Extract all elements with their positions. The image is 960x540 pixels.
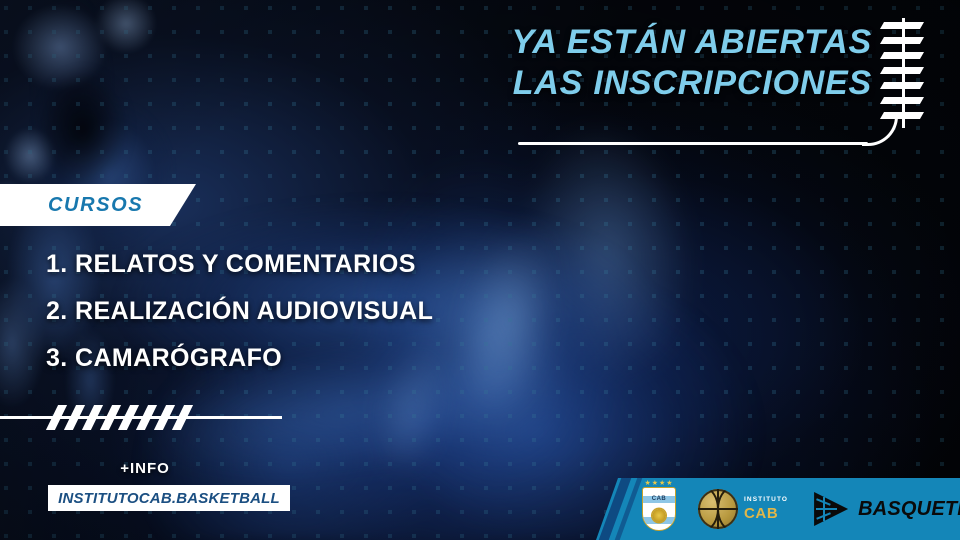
basquetpass-triangle-icon — [814, 492, 848, 526]
instituto-cab-logo: INSTITUTO CAB — [698, 489, 788, 529]
basquetpass-logo: BASQUETPASS — [814, 492, 960, 526]
list-item: 2. REALIZACIÓN AUDIOVISUAL — [46, 297, 433, 326]
basquetpass-wordmark: BASQUETPASS — [858, 498, 960, 521]
hash-divider-icon — [0, 405, 282, 431]
ladder-rung — [880, 82, 924, 89]
ladder-rung — [880, 52, 924, 59]
basketball-icon — [698, 489, 738, 529]
cursos-tab-label: CURSOS — [48, 194, 143, 217]
ladder-rung — [880, 37, 924, 44]
triangle-line — [816, 508, 837, 510]
instituto-cab-wordmark: INSTITUTO CAB — [744, 497, 788, 521]
ladder-rung — [880, 22, 924, 29]
ladder-rung — [880, 67, 924, 74]
shield-body: CAB — [642, 487, 676, 531]
instituto-label: INSTITUTO — [744, 497, 788, 504]
website-url-badge[interactable]: INSTITUTOCAB.BASKETBALL — [48, 485, 290, 511]
headline-line-2: LAS INSCRIPCIONES — [511, 63, 872, 104]
page-title: YA ESTÁN ABIERTAS LAS INSCRIPCIONES — [511, 22, 872, 105]
list-item: 3. CAMARÓGRAFO — [46, 344, 433, 373]
shield-sun-icon — [653, 509, 666, 522]
cab-shield-icon: CAB ★★★★ — [642, 487, 676, 531]
shield-cab-text: CAB — [643, 495, 675, 503]
website-url-text: INSTITUTOCAB.BASKETBALL — [58, 490, 280, 507]
hash-ladder-icon — [884, 18, 934, 128]
poster-canvas: YA ESTÁN ABIERTAS LAS INSCRIPCIONES CURS… — [0, 0, 960, 540]
list-item: 1. RELATOS Y COMENTARIOS — [46, 250, 433, 279]
headline-line-1: YA ESTÁN ABIERTAS — [511, 23, 872, 61]
ladder-rung — [880, 97, 924, 104]
info-label: +INFO — [0, 460, 290, 477]
sponsor-logo-bar: CAB ★★★★ INSTITUTO CAB — [596, 478, 960, 540]
cab-label: CAB — [744, 506, 788, 521]
ball-arc — [698, 489, 719, 529]
ladder-rung — [880, 112, 924, 119]
ball-arc — [717, 489, 738, 529]
course-list: 1. RELATOS Y COMENTARIOS 2. REALIZACIÓN … — [46, 250, 433, 391]
shield-stars: ★★★★ — [642, 480, 676, 487]
headline-underline — [518, 142, 868, 145]
cursos-section-tab: CURSOS — [0, 184, 196, 226]
